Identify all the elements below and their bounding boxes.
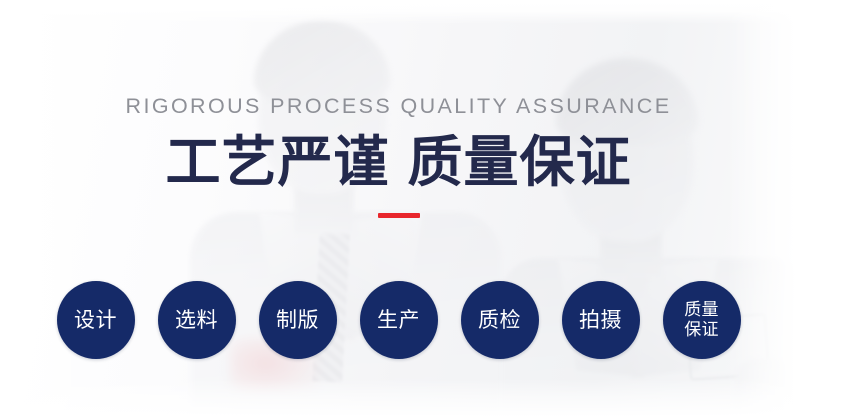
accent-rule-wrapper — [0, 205, 797, 211]
process-step-label: 制版 — [276, 309, 319, 332]
headline-part-two: 质量保证 — [408, 131, 632, 193]
promo-banner: RIGOROUS PROCESS QUALITY ASSURANCE 工艺严谨质… — [0, 0, 852, 417]
process-step-1[interactable]: 设计 — [57, 281, 135, 359]
process-step-5[interactable]: 质检 — [461, 281, 539, 359]
process-step-label: 选料 — [175, 309, 218, 332]
process-step-7[interactable]: 质量保证 — [663, 281, 741, 359]
process-step-4[interactable]: 生产 — [360, 281, 438, 359]
process-step-2[interactable]: 选料 — [158, 281, 236, 359]
process-step-label: 质量 — [684, 300, 719, 320]
process-step-list: 设计选料制版生产质检拍摄质量保证 — [0, 279, 797, 361]
accent-rule — [378, 213, 420, 218]
process-step-label: 设计 — [74, 309, 117, 332]
eyebrow-text: RIGOROUS PROCESS QUALITY ASSURANCE — [0, 0, 797, 119]
process-step-label: 拍摄 — [579, 309, 622, 332]
process-step-label: 生产 — [377, 309, 420, 332]
page-title: 工艺严谨质量保证 — [0, 119, 797, 195]
process-step-label: 质检 — [478, 309, 521, 332]
process-step-label: 保证 — [684, 320, 719, 340]
headline-block: RIGOROUS PROCESS QUALITY ASSURANCE 工艺严谨质… — [0, 0, 797, 211]
headline-part-one: 工艺严谨 — [165, 131, 389, 193]
process-step-3[interactable]: 制版 — [259, 281, 337, 359]
process-step-6[interactable]: 拍摄 — [562, 281, 640, 359]
background-bottom-fade — [0, 379, 797, 417]
right-white-margin — [797, 0, 852, 417]
